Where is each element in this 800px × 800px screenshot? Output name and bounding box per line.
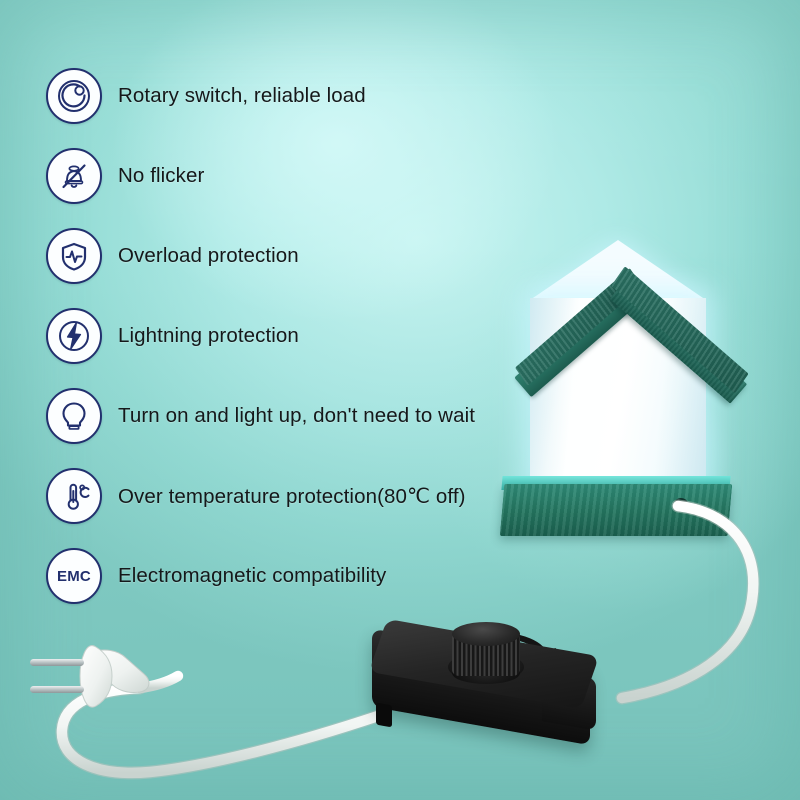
infographic-canvas: Rotary switch, reliable load No flicker	[0, 0, 800, 800]
plug-prong-top	[30, 659, 84, 666]
two-prong-plug	[30, 646, 149, 708]
inline-rotary-dimmer[interactable]	[372, 630, 604, 748]
dimmer-cord-port	[376, 703, 392, 728]
knob-top-cap[interactable]	[452, 622, 520, 646]
plug-prong-bottom	[30, 686, 84, 693]
